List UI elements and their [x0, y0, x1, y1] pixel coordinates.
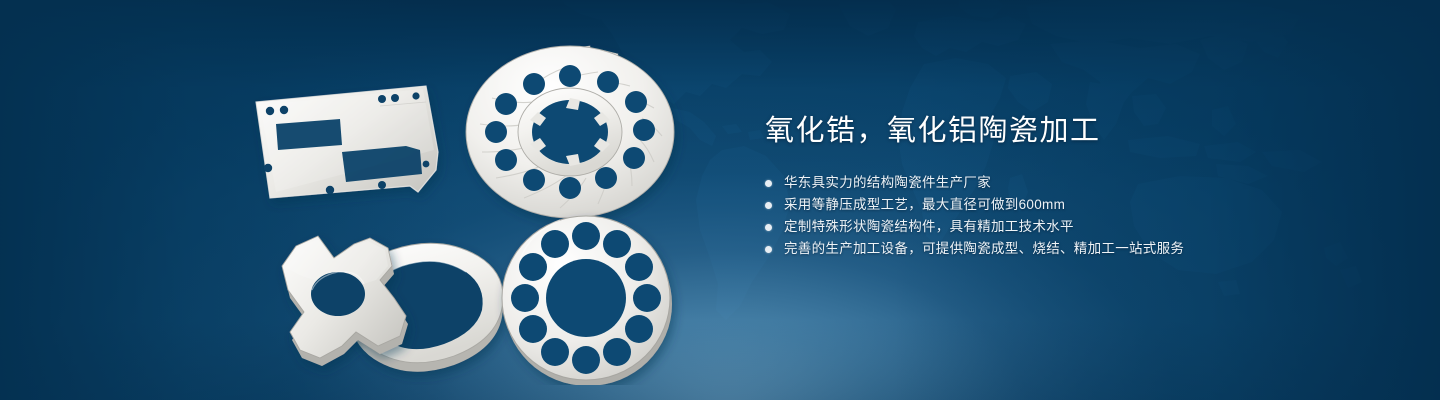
bullet-dot-icon [765, 246, 772, 253]
feature-text: 定制特殊形状陶瓷结构件，具有精加工技术水平 [784, 216, 1074, 238]
ceramic-perforated-disc-part [502, 216, 672, 385]
ceramic-impeller-part [466, 46, 674, 218]
feature-text: 完善的生产加工设备，可提供陶瓷成型、烧结、精加工一站式服务 [784, 238, 1184, 260]
bullet-dot-icon [765, 224, 772, 231]
hero-banner: 氧化锆，氧化铝陶瓷加工 华东具实力的结构陶瓷件生产厂家 采用等静压成型工艺，最大… [0, 0, 1440, 400]
page-title: 氧化锆，氧化铝陶瓷加工 [765, 112, 1385, 150]
feature-list: 华东具实力的结构陶瓷件生产厂家 采用等静压成型工艺，最大直径可做到600mm 定… [765, 172, 1385, 260]
ceramic-plate-part [256, 86, 438, 198]
ceramic-cross-part [282, 236, 408, 366]
bullet-dot-icon [765, 202, 772, 209]
feature-text: 华东具实力的结构陶瓷件生产厂家 [784, 172, 991, 194]
list-item: 完善的生产加工设备，可提供陶瓷成型、烧结、精加工一站式服务 [765, 238, 1385, 260]
feature-text: 采用等静压成型工艺，最大直径可做到600mm [784, 194, 1065, 216]
banner-copy: 氧化锆，氧化铝陶瓷加工 华东具实力的结构陶瓷件生产厂家 采用等静压成型工艺，最大… [765, 112, 1385, 260]
product-photo-cluster [230, 40, 710, 385]
list-item: 华东具实力的结构陶瓷件生产厂家 [765, 172, 1385, 194]
list-item: 定制特殊形状陶瓷结构件，具有精加工技术水平 [765, 216, 1385, 238]
list-item: 采用等静压成型工艺，最大直径可做到600mm [765, 194, 1385, 216]
bullet-dot-icon [765, 180, 772, 187]
